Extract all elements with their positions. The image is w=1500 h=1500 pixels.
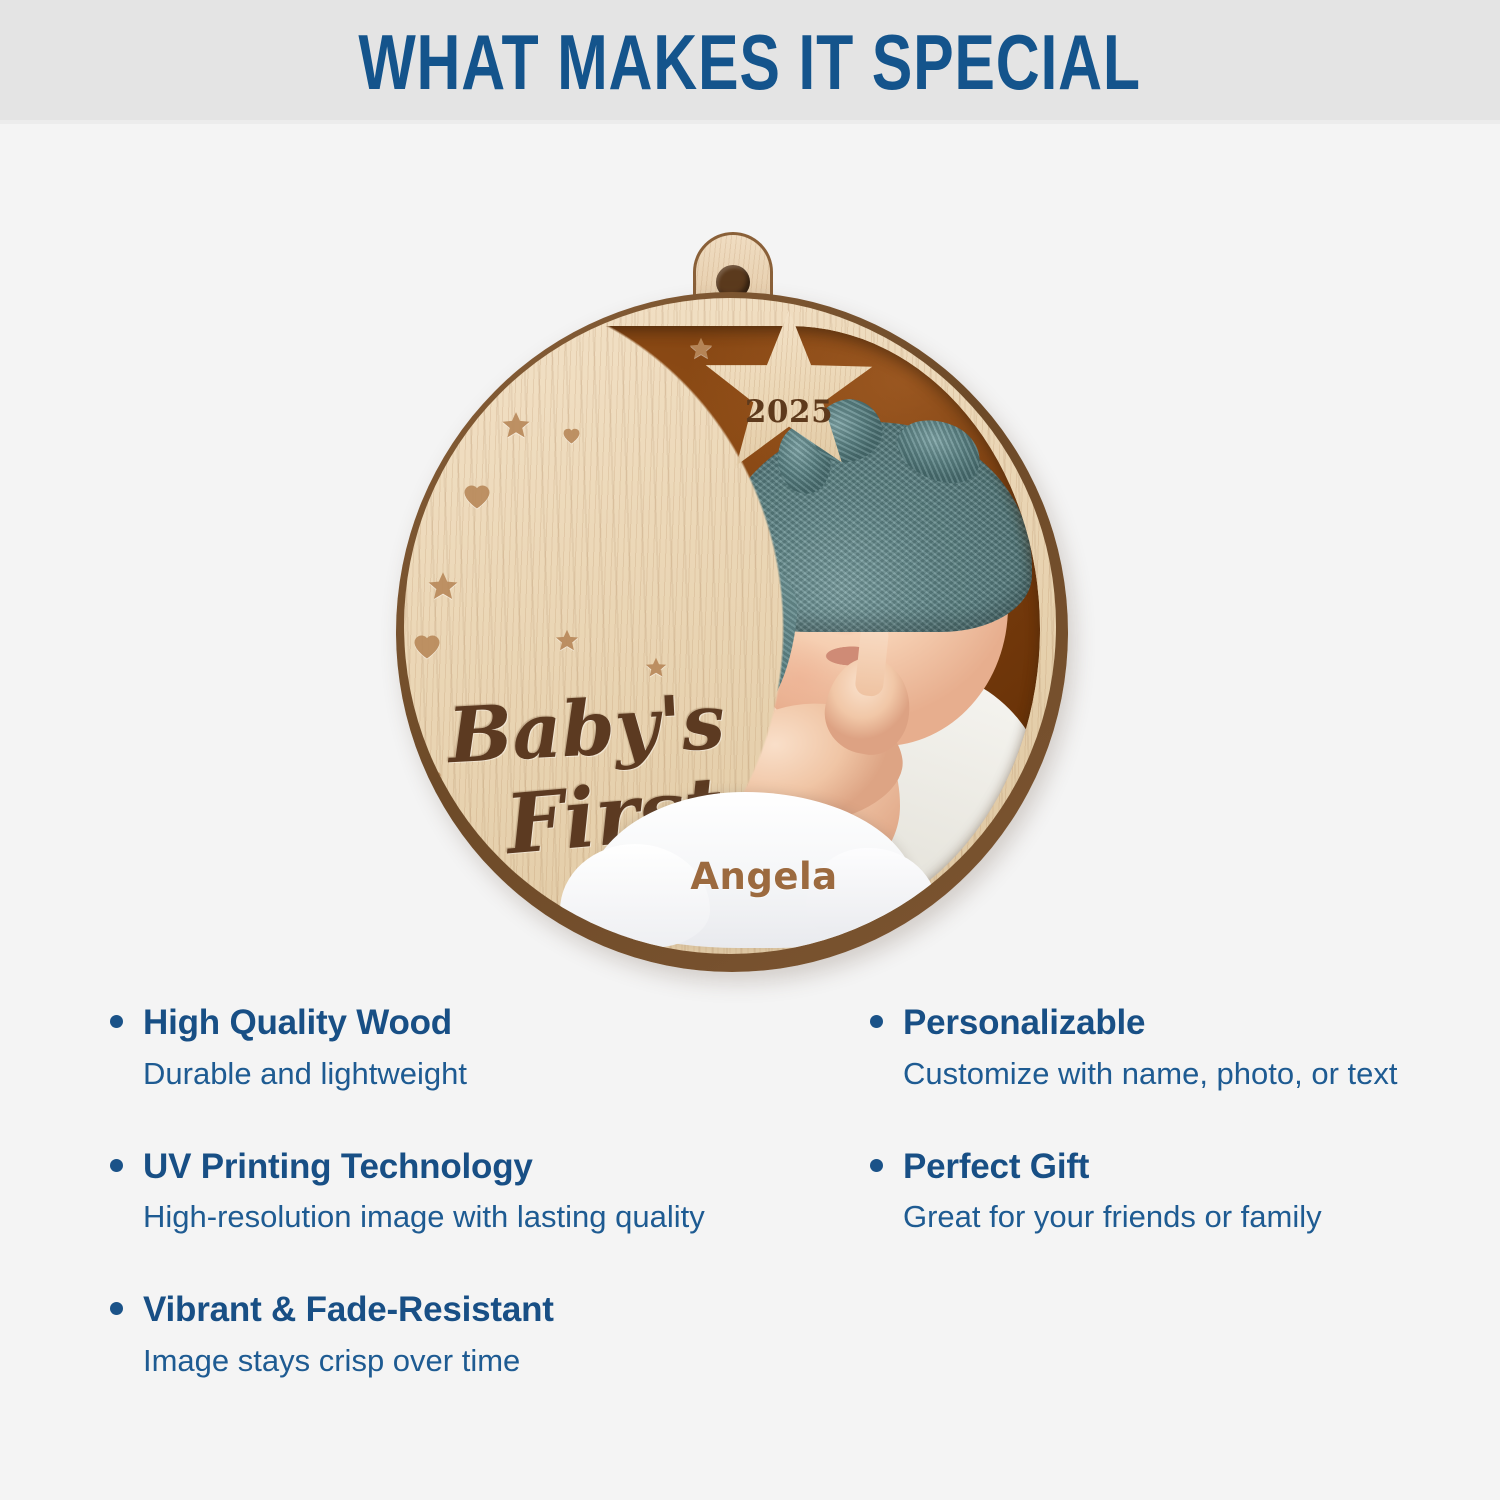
feature-title: High Quality Wood (143, 1004, 452, 1043)
star-icon (554, 628, 580, 654)
star-icon (500, 410, 532, 442)
feature-title: UV Printing Technology (143, 1148, 533, 1187)
feature-title: Perfect Gift (903, 1148, 1089, 1187)
feature-subtitle: Image stays crisp over time (143, 1342, 810, 1379)
feature-item: Perfect Gift Great for your friends or f… (870, 1148, 1490, 1236)
page-title: WHAT MAKES IT SPECIAL (359, 23, 1141, 101)
year-label: 2025 (704, 394, 874, 430)
ornament-disc-edge: Angela 2025 Baby's First Christmas (396, 292, 1068, 972)
feature-title: Vibrant & Fade-Resistant (143, 1291, 554, 1330)
ornament-wood-face: Angela 2025 Baby's First Christmas (404, 298, 1056, 954)
star-icon (688, 336, 714, 362)
bullet-icon (110, 1302, 123, 1315)
personalized-name-label: Angela (614, 855, 914, 898)
feature-heading: High Quality Wood (110, 1004, 810, 1043)
heart-icon (426, 770, 442, 785)
bullet-icon (110, 1159, 123, 1172)
feature-heading: Perfect Gift (870, 1148, 1490, 1187)
feature-item: High Quality Wood Durable and lightweigh… (110, 1004, 810, 1092)
features-section: High Quality Wood Durable and lightweigh… (0, 1004, 1500, 1500)
feature-subtitle: High-resolution image with lasting quali… (143, 1198, 810, 1235)
feature-subtitle: Great for your friends or family (903, 1198, 1490, 1235)
features-column-right: Personalizable Customize with name, phot… (870, 1004, 1490, 1435)
bullet-icon (870, 1159, 883, 1172)
heart-icon (412, 632, 442, 660)
feature-item: Vibrant & Fade-Resistant Image stays cri… (110, 1291, 810, 1379)
product-stage: Angela 2025 Baby's First Christmas (0, 124, 1500, 1004)
heart-icon (562, 426, 581, 445)
feature-heading: Personalizable (870, 1004, 1490, 1043)
heart-icon (462, 482, 492, 510)
feature-heading: Vibrant & Fade-Resistant (110, 1291, 810, 1330)
star-icon (644, 656, 668, 680)
feature-title: Personalizable (903, 1004, 1145, 1043)
ornament-product-image: Angela 2025 Baby's First Christmas (396, 232, 1068, 972)
feature-item: Personalizable Customize with name, phot… (870, 1004, 1490, 1092)
bullet-icon (110, 1015, 123, 1028)
bullet-icon (870, 1015, 883, 1028)
feature-subtitle: Customize with name, photo, or text (903, 1055, 1490, 1092)
features-column-left: High Quality Wood Durable and lightweigh… (110, 1004, 810, 1435)
star-icon (426, 570, 460, 604)
feature-item: UV Printing Technology High-resolution i… (110, 1148, 810, 1236)
feature-heading: UV Printing Technology (110, 1148, 810, 1187)
header-band: WHAT MAKES IT SPECIAL (0, 0, 1500, 124)
feature-subtitle: Durable and lightweight (143, 1055, 810, 1092)
